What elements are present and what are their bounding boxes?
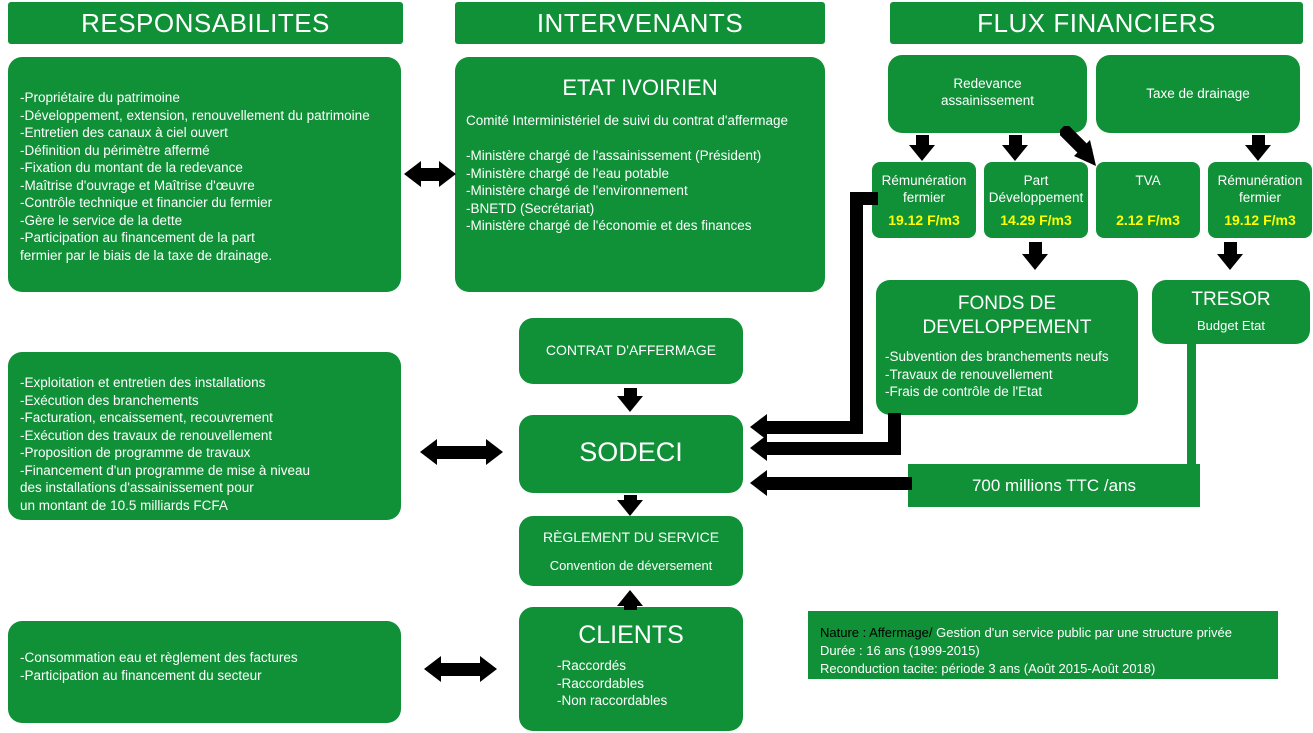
box-reglement-du-service: RÈGLEMENT DU SERVICE Convention de déver…: [519, 516, 743, 586]
arrow-head-redevance-to-part: [1002, 145, 1028, 161]
bidirectional-arrow-state: [404, 159, 456, 189]
bidir-shaft: [439, 663, 484, 676]
arrow-head-clients-to-reglement: [617, 590, 643, 606]
bidir-head-right: [480, 656, 497, 682]
box-etat-ivoirien: ETAT IVOIRIEN Comité Interministériel de…: [455, 57, 825, 292]
tresor-subtitle: Budget Etat: [1152, 318, 1310, 333]
box-annual-amount: 700 millions TTC /ans: [908, 464, 1200, 507]
diagram-canvas: RESPONSABILITES INTERVENANTS FLUX FINANC…: [0, 0, 1313, 733]
bidirectional-arrow-operator: [420, 437, 505, 467]
column-header-flux-financiers: FLUX FINANCIERS: [890, 2, 1303, 44]
taxe-drainage-label: Taxe de drainage: [1096, 85, 1300, 102]
connector-tresor-to-amount-horizontal: [1160, 475, 1200, 484]
etat-ivoirien-members: -Ministère chargé de l'assainissement (P…: [466, 147, 816, 235]
flow1-vertical: [850, 192, 863, 434]
arrow-head-taxe-to-remuneration2: [1245, 145, 1271, 161]
reglement-title: RÈGLEMENT DU SERVICE: [519, 529, 743, 545]
box-fonds-de-developpement: FONDS DE DEVELOPPEMENT -Subvention des b…: [876, 280, 1138, 415]
client-responsibilities-text: -Consommation eau et règlement des factu…: [20, 649, 395, 684]
alloc-name: Rémunération fermier: [1208, 172, 1312, 206]
clients-items: -Raccordés -Raccordables -Non raccordabl…: [557, 657, 737, 710]
column-header-responsabilites: RESPONSABILITES: [8, 2, 403, 44]
alloc-value: 19.12 F/m3: [1208, 212, 1312, 228]
box-remuneration-fermier-1: Rémunération fermier 19.12 F/m3: [872, 162, 976, 238]
bidir-head-right: [439, 161, 456, 187]
arrow-head-contrat-to-sodeci: [617, 396, 643, 412]
box-contrat-affermage: CONTRAT D'AFFERMAGE: [519, 318, 743, 384]
alloc-name: Part Développement: [984, 172, 1088, 206]
flow1-horizontal: [767, 421, 863, 434]
box-sodeci: SODECI: [519, 415, 743, 493]
box-operator-responsibilities: -Exploitation et entretien des installat…: [8, 352, 401, 520]
box-tva: TVA 2.12 F/m3: [1096, 162, 1200, 238]
contract-note-box: Nature : Affermage/ Gestion d'un service…: [808, 611, 1278, 679]
contrat-affermage-label: CONTRAT D'AFFERMAGE: [519, 342, 743, 358]
note-nature-value: Gestion d'un service public par une stru…: [933, 625, 1232, 640]
flow2-arrow-head: [750, 435, 767, 461]
alloc-name: TVA: [1096, 172, 1200, 189]
column-header-label: INTERVENANTS: [537, 8, 743, 39]
box-client-responsibilities: -Consommation eau et règlement des factu…: [8, 621, 401, 723]
arrow-redevance-to-tva: [1060, 126, 1120, 168]
sodeci-label: SODECI: [519, 437, 743, 468]
clients-title: CLIENTS: [519, 621, 743, 650]
flow2-horizontal: [767, 442, 901, 455]
box-state-responsibilities: -Propriétaire du patrimoine -Développeme…: [8, 57, 401, 292]
diagonal-arrow-icon: [1060, 126, 1120, 168]
arrow-head-remuneration2-to-tresor: [1217, 254, 1243, 270]
arrow-head-redevance-to-remuneration: [909, 145, 935, 161]
column-header-label: FLUX FINANCIERS: [977, 8, 1216, 39]
flow3-arrow-head: [750, 470, 767, 496]
box-remuneration-fermier-2: Rémunération fermier 19.12 F/m3: [1208, 162, 1312, 238]
box-tresor: TRESOR Budget Etat: [1152, 280, 1310, 344]
fonds-title: FONDS DE DEVELOPPEMENT: [876, 292, 1138, 340]
note-line-3: Reconduction tacite: période 3 ans (Août…: [820, 660, 1268, 678]
fonds-items: -Subvention des branchements neufs -Trav…: [885, 348, 1135, 401]
bidir-head-right: [486, 439, 503, 465]
alloc-value: 14.29 F/m3: [984, 212, 1088, 228]
flow3-horizontal: [767, 477, 912, 490]
note-line-1: Nature : Affermage/ Gestion d'un service…: [820, 624, 1268, 642]
arrow-head-sodeci-to-reglement: [617, 500, 643, 516]
flow1-top-stub: [850, 192, 878, 205]
state-responsibilities-text: -Propriétaire du patrimoine -Développeme…: [20, 89, 395, 264]
box-taxe-de-drainage: Taxe de drainage: [1096, 55, 1300, 133]
connector-tresor-to-amount-vertical: [1187, 344, 1196, 484]
annual-amount-label: 700 millions TTC /ans: [908, 476, 1200, 496]
etat-ivoirien-title: ETAT IVOIRIEN: [455, 75, 825, 101]
alloc-value: 19.12 F/m3: [872, 212, 976, 228]
box-clients: CLIENTS -Raccordés -Raccordables -Non ra…: [519, 607, 743, 731]
tresor-title: TRESOR: [1152, 288, 1310, 312]
note-line-2: Durée : 16 ans (1999-2015): [820, 642, 1268, 660]
column-header-intervenants: INTERVENANTS: [455, 2, 825, 44]
redevance-label: Redevance assainissement: [888, 75, 1087, 109]
box-part-developpement: Part Développement 14.29 F/m3: [984, 162, 1088, 238]
note-nature-label: Nature : Affermage/: [820, 625, 933, 640]
operator-responsibilities-text: -Exploitation et entretien des installat…: [20, 374, 395, 514]
column-header-label: RESPONSABILITES: [81, 8, 330, 39]
arrow-head-part-to-fonds: [1022, 254, 1048, 270]
bidir-shaft: [419, 168, 441, 181]
etat-ivoirien-subtitle: Comité Interministériel de suivi du cont…: [466, 112, 816, 130]
bidir-shaft: [435, 446, 490, 459]
bidirectional-arrow-clients: [424, 654, 499, 684]
reglement-subtitle: Convention de déversement: [519, 558, 743, 573]
alloc-name: Rémunération fermier: [872, 172, 976, 206]
box-redevance-assainissement: Redevance assainissement: [888, 55, 1087, 133]
alloc-value: 2.12 F/m3: [1096, 212, 1200, 228]
